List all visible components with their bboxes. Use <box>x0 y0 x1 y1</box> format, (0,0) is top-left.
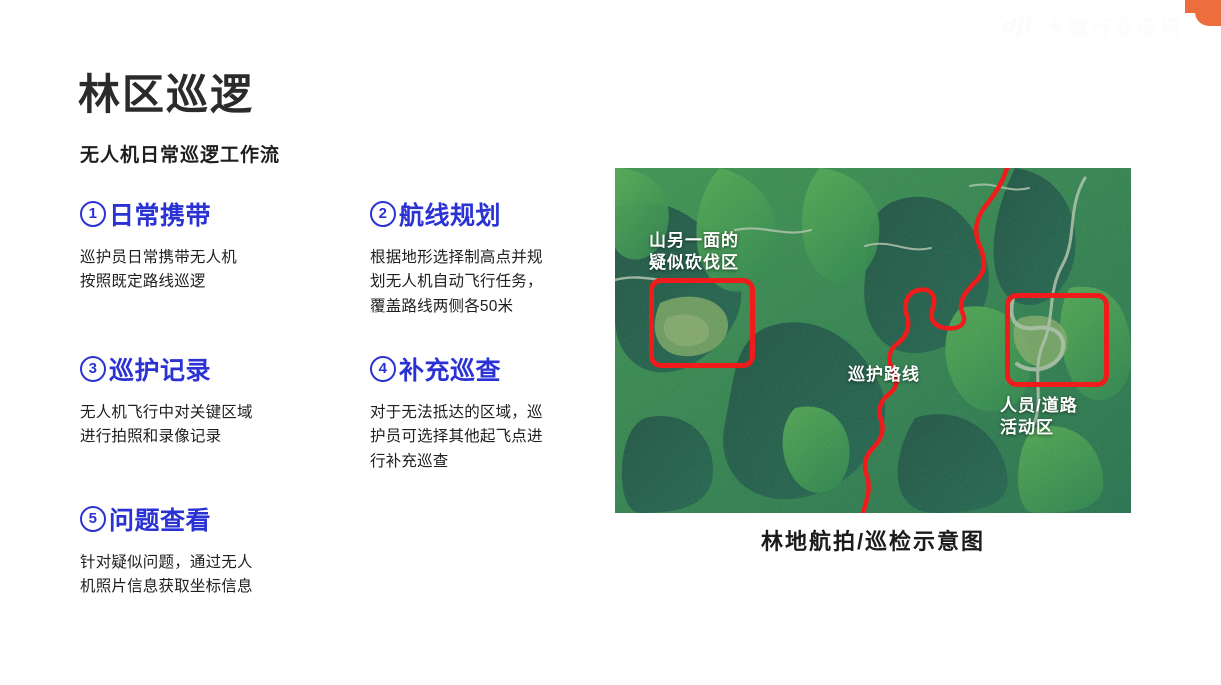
step-3-number: 3 <box>80 356 106 382</box>
photo-caption: 林地航拍/巡检示意图 <box>615 524 1131 556</box>
brand-watermark: dji 大疆行业应用 <box>1003 12 1184 41</box>
label-road-activity-area: 人员/道路 活动区 <box>1000 395 1078 440</box>
workflow-step-1: 1 日常携带 巡护员日常携带无人机 按照既定路线巡逻 <box>80 196 320 295</box>
page-title: 林区巡逻 <box>78 72 254 118</box>
step-2-body: 根据地形选择制高点并规 划无人机自动飞行任务， 覆盖路线两侧各50米 <box>370 246 610 319</box>
step-4-number: 4 <box>370 356 396 382</box>
step-5-heading: 5 问题查看 <box>80 501 320 537</box>
step-5-title: 问题查看 <box>109 501 211 537</box>
step-5-body: 针对疑似问题，通过无人 机照片信息获取坐标信息 <box>80 551 320 600</box>
step-2-heading: 2 航线规划 <box>370 196 610 232</box>
step-1-number: 1 <box>80 201 106 227</box>
aerial-photo: 山另一面的 疑似砍伐区 巡护路线 人员/道路 活动区 <box>615 168 1131 513</box>
step-1-title: 日常携带 <box>109 196 211 232</box>
page-subtitle: 无人机日常巡逻工作流 <box>80 140 280 167</box>
step-1-body: 巡护员日常携带无人机 按照既定路线巡逻 <box>80 246 320 295</box>
dji-logo-icon: dji <box>1003 15 1034 39</box>
step-2-title: 航线规划 <box>399 196 501 232</box>
highlight-box-road-area <box>1005 293 1109 387</box>
label-cut-area: 山另一面的 疑似砍伐区 <box>649 230 739 275</box>
workflow-step-2: 2 航线规划 根据地形选择制高点并规 划无人机自动飞行任务， 覆盖路线两侧各50… <box>370 196 610 319</box>
label-patrol-route: 巡护路线 <box>848 364 920 386</box>
workflow-step-5: 5 问题查看 针对疑似问题，通过无人 机照片信息获取坐标信息 <box>80 501 320 600</box>
step-3-heading: 3 巡护记录 <box>80 351 320 387</box>
step-4-body: 对于无法抵达的区域，巡 护员可选择其他起飞点进 行补充巡查 <box>370 401 610 474</box>
step-5-number: 5 <box>80 506 106 532</box>
workflow-step-4: 4 补充巡查 对于无法抵达的区域，巡 护员可选择其他起飞点进 行补充巡查 <box>370 351 610 474</box>
corner-decoration <box>1195 0 1221 26</box>
highlight-box-cut-area <box>649 278 755 368</box>
step-4-heading: 4 补充巡查 <box>370 351 610 387</box>
step-2-number: 2 <box>370 201 396 227</box>
step-3-body: 无人机飞行中对关键区域 进行拍照和录像记录 <box>80 401 320 450</box>
step-3-title: 巡护记录 <box>109 351 211 387</box>
step-1-heading: 1 日常携带 <box>80 196 320 232</box>
step-4-title: 补充巡查 <box>399 351 501 387</box>
watermark-text: 大疆行业应用 <box>1045 12 1183 41</box>
workflow-step-3: 3 巡护记录 无人机飞行中对关键区域 进行拍照和录像记录 <box>80 351 320 450</box>
